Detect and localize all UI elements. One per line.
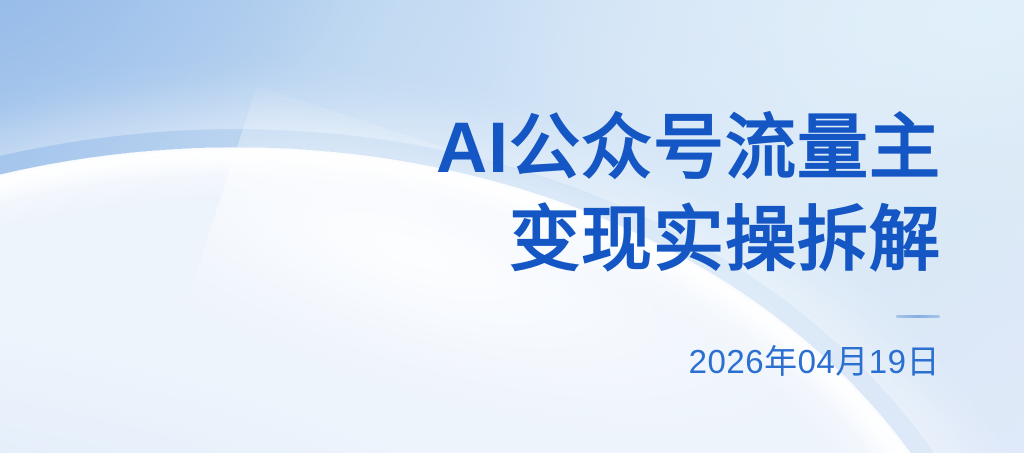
cover-banner: AI公众号流量主 变现实操拆解 2026年04月19日 [0, 0, 1024, 453]
banner-content: AI公众号流量主 变现实操拆解 2026年04月19日 [0, 0, 1024, 453]
banner-date: 2026年04月19日 [689, 341, 940, 383]
banner-title: AI公众号流量主 变现实操拆解 [436, 103, 941, 287]
title-divider-rule [896, 315, 940, 318]
banner-title-line-1: AI公众号流量主 [436, 103, 941, 195]
banner-title-line-2: 变现实操拆解 [436, 195, 941, 287]
